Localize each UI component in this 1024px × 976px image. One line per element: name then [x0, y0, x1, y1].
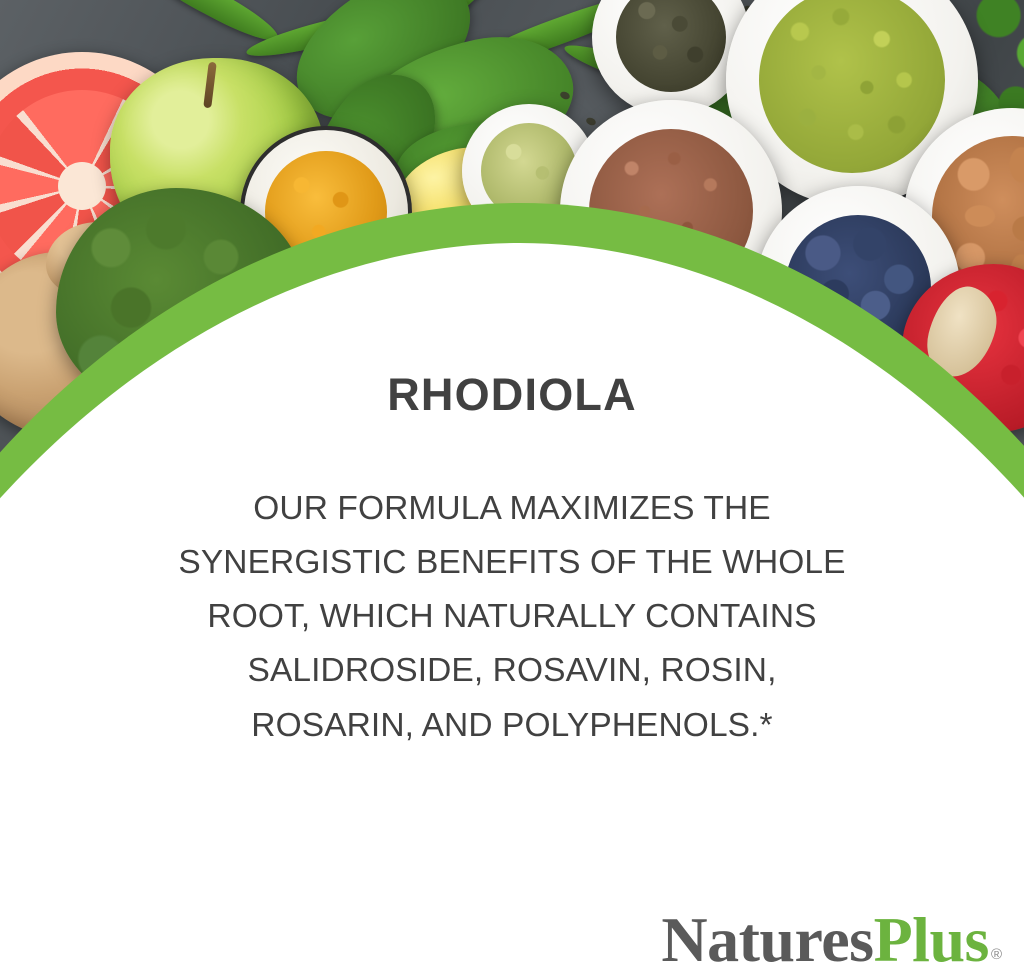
- content-panel: RHODIOLA OUR FORMULA MAXIMIZES THE SYNER…: [0, 370, 1024, 753]
- red-rice-grains: [589, 129, 753, 293]
- red-rice-bowl: [560, 100, 782, 322]
- naturesplus-logo[interactable]: NaturesPlus®: [661, 908, 1002, 972]
- dried-tea-leaves: [616, 0, 727, 92]
- logo-natures-text: Natures: [661, 908, 873, 972]
- product-info-card: RHODIOLA OUR FORMULA MAXIMIZES THE SYNER…: [0, 0, 1024, 976]
- registered-trademark-icon: ®: [991, 947, 1002, 962]
- body-copy: OUR FORMULA MAXIMIZES THE SYNERGISTIC BE…: [132, 482, 892, 753]
- logo-plus-text: Plus: [874, 908, 989, 972]
- mung-beans: [759, 0, 945, 173]
- page-title: RHODIOLA: [0, 370, 1024, 420]
